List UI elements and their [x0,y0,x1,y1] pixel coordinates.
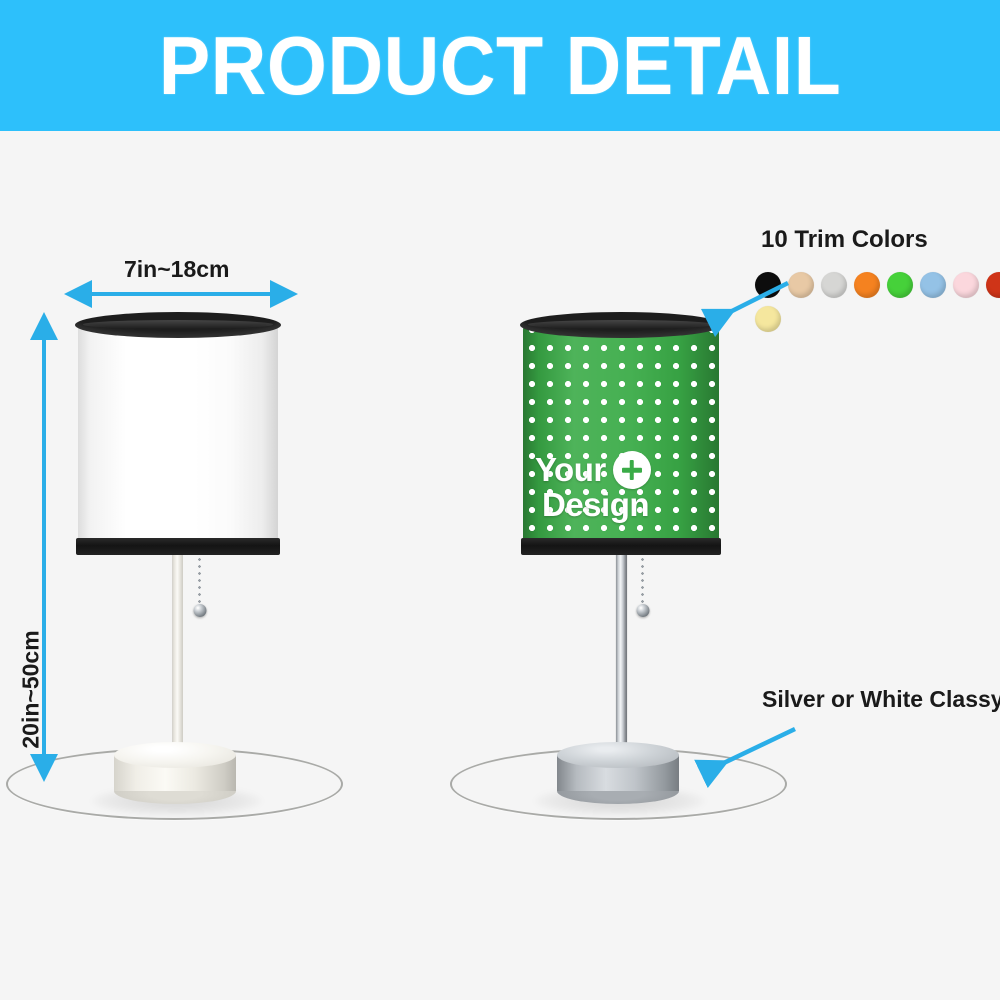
green-lampshade-bottom-trim [521,538,721,555]
white-lampshade-top-trim [75,312,281,338]
green-lamp-stem [616,549,627,761]
white-lampshade-bottom-trim [76,538,280,555]
white-base-top [114,742,236,768]
white-lamp-base [114,742,236,806]
white-lamp-stem [172,549,183,761]
header-banner: PRODUCT DETAIL [0,0,1000,131]
swatch-light-blue[interactable] [920,272,946,298]
swatch-red[interactable] [986,272,1000,298]
your-design-artwork: Your Design [535,451,695,521]
artwork-line-2: Design [542,489,649,521]
white-lamp-pull-chain[interactable] [196,556,203,606]
pull-chain-ball [636,604,649,617]
green-lampshade-body: Your Design [523,321,719,553]
trim-colors-label: 10 Trim Colors [761,226,928,254]
silver-base-top [557,742,679,768]
height-dimension-arrow [33,326,55,768]
green-lamp-base [557,742,679,806]
artwork-line-1-row: Your [535,451,695,489]
green-lamp-pull-chain[interactable] [639,556,646,606]
base-finish-pointer-arrow [695,723,805,783]
green-lampshade: Your Design [523,321,719,553]
trim-colors-pointer-arrow [702,277,794,329]
pull-chain-ball [193,604,206,617]
swatch-green[interactable] [887,272,913,298]
white-lampshade [78,321,278,553]
pull-chain-beads [640,556,645,606]
width-dimension-arrow [78,283,284,305]
page-title: PRODUCT DETAIL [159,24,842,107]
green-lampshade-top-trim [520,312,722,338]
swatch-orange[interactable] [854,272,880,298]
artwork-line-1: Your [535,454,606,486]
pull-chain-beads [197,556,202,606]
artwork-line-2-row: Design [542,489,695,521]
swatch-pink[interactable] [953,272,979,298]
width-dimension-label: 7in~18cm [124,256,230,283]
white-lampshade-body [78,321,278,553]
product-illustration-stage: Your Design 7in~18cm [0,131,1000,1000]
base-finish-label: Silver or White Classy [762,686,1000,713]
plus-icon [613,451,651,489]
swatch-light-gray[interactable] [821,272,847,298]
